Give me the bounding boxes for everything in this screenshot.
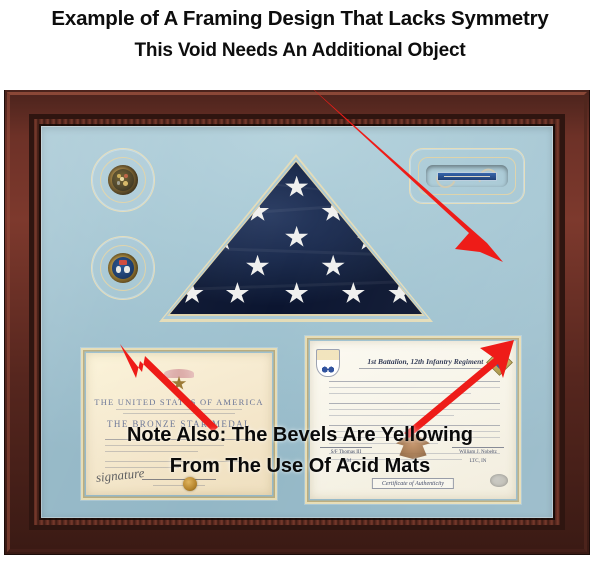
embossed-seal [490, 474, 508, 487]
crest-figure [320, 363, 336, 374]
coin-pip [124, 266, 130, 273]
challenge-coin-upper [108, 165, 138, 195]
signature-rule [452, 447, 504, 448]
bronze-star-title-line-1: THE UNITED STATES OF AMERICA [86, 397, 272, 407]
embossed-seal [183, 477, 197, 491]
certificate-of-authenticity-label: Certificate of Authenticity [372, 478, 454, 489]
distinctive-unit-insignia-icon [486, 349, 513, 376]
signature-rank-left: CSM [320, 458, 372, 466]
bronze-star-title-line-2: THE BRONZE STAR MEDAL [86, 419, 272, 429]
headline-main: Example of A Framing Design That Lacks S… [51, 8, 548, 30]
cib-icon [434, 168, 500, 185]
flag-star [285, 226, 309, 249]
star-icon [172, 376, 187, 391]
authenticity-heading: 1st Battalion, 12th Infantry Regiment [364, 357, 488, 366]
certificate-opening-authenticity: 1st Battalion, 12th Infantry Regiment S/… [305, 336, 521, 504]
cib-rifle-icon [444, 176, 490, 178]
headline-sub: This Void Needs An Additional Object [135, 41, 466, 61]
flag-star [341, 282, 365, 305]
signature-name-right: William J. Nobeltz [452, 449, 504, 457]
folded-american-flag [170, 162, 422, 314]
flag-star [246, 255, 270, 278]
coin-face-upper [112, 169, 134, 191]
combat-infantryman-badge [426, 165, 508, 187]
flag-star [321, 255, 345, 278]
annotation-headings: Example of A Framing Design That Lacks S… [0, 0, 600, 90]
signature-block-left: S/F Thomas III CSM [320, 447, 372, 465]
coin-opening-upper [91, 148, 155, 212]
coin-pip [123, 181, 128, 186]
signature-name-left: S/F Thomas III [320, 449, 372, 457]
signature-block-right: William J. Nobeltz LTC, IN [452, 447, 504, 465]
coin-pip [117, 181, 121, 185]
bronze-star-certificate: THE UNITED STATES OF AMERICA THE BRONZE … [86, 353, 272, 495]
heading-rule [359, 368, 491, 369]
certificate-of-authenticity: 1st Battalion, 12th Infantry Regiment S/… [310, 341, 516, 499]
challenge-coin-lower [108, 253, 138, 283]
coin-pip [119, 260, 128, 264]
mat-board: THE UNITED STATES OF AMERICA THE BRONZE … [41, 126, 553, 518]
shadow-box-frame: THE UNITED STATES OF AMERICA THE BRONZE … [4, 89, 590, 555]
flag-fold [195, 247, 397, 257]
signature-rank-right: LTC, IN [452, 458, 504, 466]
flag-opening [159, 154, 433, 322]
regimental-crest-icon [316, 349, 340, 377]
coin-pip [120, 177, 123, 180]
certificate-opening-bronze-star: THE UNITED STATES OF AMERICA THE BRONZE … [81, 348, 277, 500]
coin-pip [124, 174, 128, 178]
coin-pip [116, 266, 122, 273]
bronze-star-emblem [164, 369, 194, 395]
signature-rule [320, 447, 372, 448]
flag-fold [215, 202, 376, 216]
coin-face-lower [112, 257, 134, 279]
coin-opening-lower [91, 236, 155, 300]
